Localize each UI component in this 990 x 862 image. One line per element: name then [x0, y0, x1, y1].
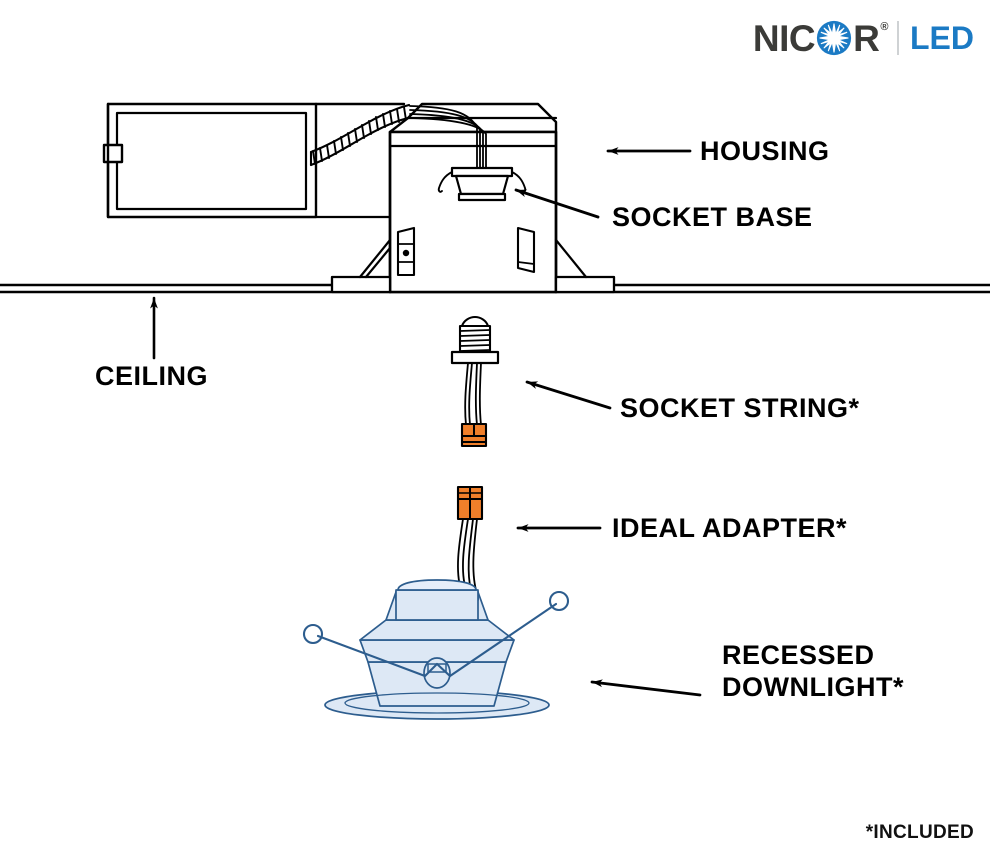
- recessed-downlight-part: [325, 580, 549, 719]
- label-ceiling: CEILING: [95, 362, 208, 391]
- socket-string-connector: [462, 424, 486, 446]
- ideal-adapter-part: [458, 487, 482, 590]
- label-recessed-downlight-line1: RECESSED: [722, 641, 875, 670]
- recessed-downlight-arrow: [592, 682, 700, 695]
- label-socket-base: SOCKET BASE: [612, 203, 813, 232]
- ideal-adapter-connector: [458, 487, 482, 519]
- footnote-included: *INCLUDED: [866, 822, 974, 844]
- label-socket-string: SOCKET STRING*: [620, 394, 860, 423]
- socket-string-part: [452, 317, 498, 446]
- label-ideal-adapter: IDEAL ADAPTER*: [612, 514, 847, 543]
- junction-box: [104, 104, 404, 217]
- downlight-taper: [360, 620, 514, 640]
- label-recessed-downlight-line2: DOWNLIGHT*: [722, 673, 904, 702]
- installation-line-art: [0, 0, 990, 862]
- label-housing: HOUSING: [700, 137, 830, 166]
- diagram-canvas: NIC: [0, 0, 990, 862]
- socket-string-arrow: [527, 382, 610, 408]
